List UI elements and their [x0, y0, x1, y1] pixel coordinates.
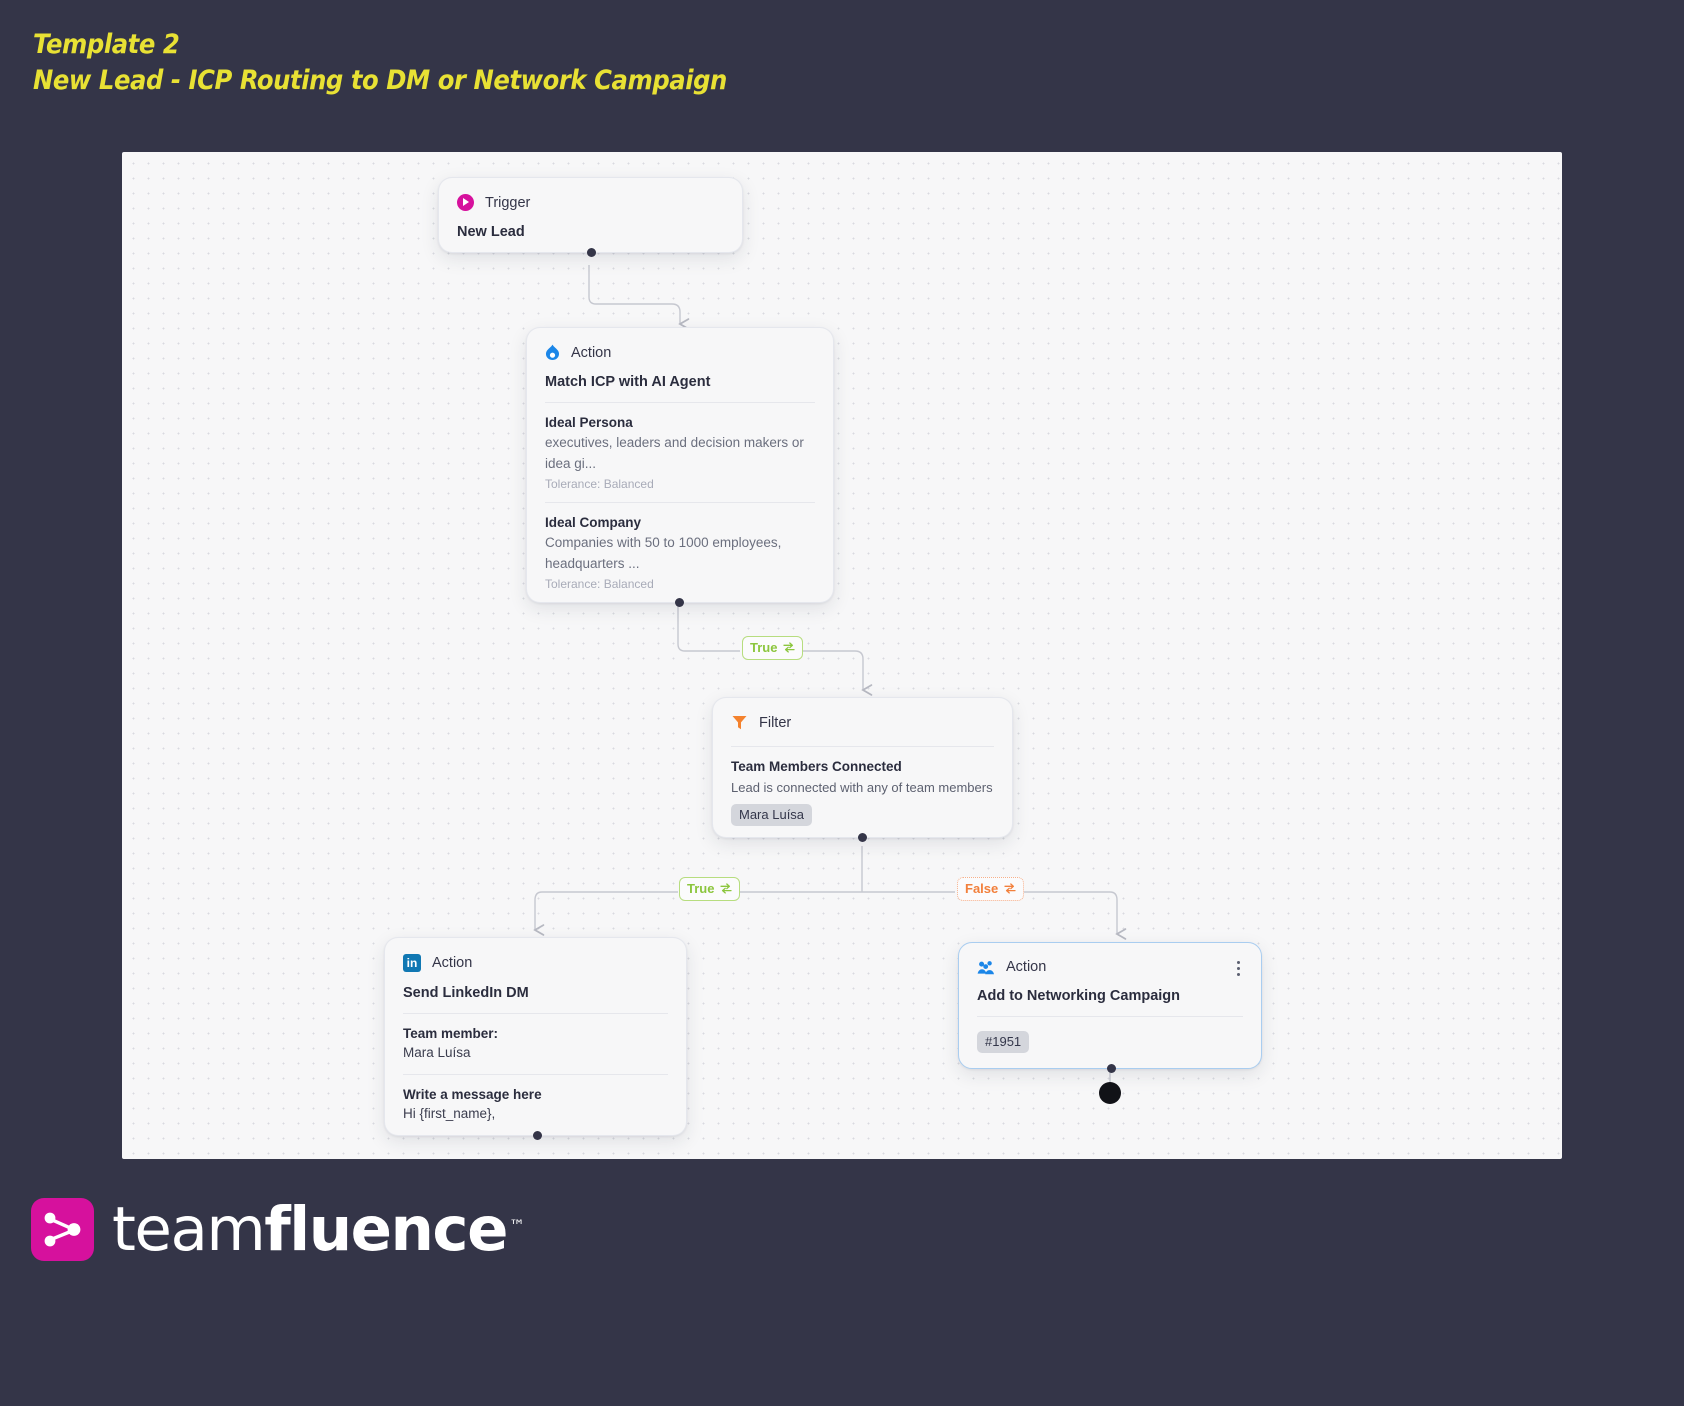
node-match-icp-output-port[interactable] [675, 598, 684, 607]
logo-word-thin: team [112, 1194, 264, 1265]
section-label: Team member: [403, 1026, 668, 1041]
people-group-icon [977, 960, 995, 975]
section-tolerance: Tolerance: Balanced [545, 477, 815, 491]
node-filter-header: Filter [713, 698, 1012, 731]
branch-badge-icp-true[interactable]: True [742, 636, 803, 660]
node-trigger[interactable]: Trigger New Lead [438, 177, 743, 253]
branch-badge-label: False [965, 881, 998, 896]
play-circle-icon [457, 194, 474, 211]
node-filter-body: Team Members Connected Lead is connected… [713, 747, 1012, 837]
linkedin-icon: in [403, 954, 421, 972]
workflow-canvas[interactable]: Trigger New Lead Action Match ICP with A… [122, 152, 1562, 1159]
section-body: Companies with 50 to 1000 employees, hea… [545, 532, 815, 574]
node-trigger-kind: Trigger [485, 195, 530, 211]
node-networking-kind: Action [1006, 959, 1046, 975]
node-send-dm-header: in Action [385, 938, 686, 972]
swap-arrows-icon [1004, 883, 1016, 894]
branch-badge-filter-false[interactable]: False [957, 877, 1024, 901]
node-networking-campaign-chip[interactable]: #1951 [977, 1031, 1029, 1053]
node-send-linkedin-dm[interactable]: in Action Send LinkedIn DM Team member: … [384, 937, 687, 1136]
section-label: Ideal Company [545, 515, 815, 530]
node-trigger-title: New Lead [439, 211, 742, 252]
node-networking-title: Add to Networking Campaign [959, 975, 1261, 1016]
section-body: Mara Luísa [403, 1042, 668, 1063]
funnel-icon [731, 714, 748, 731]
teamfluence-wordmark: teamfluence™ [112, 1199, 507, 1260]
swap-arrows-icon [720, 883, 732, 894]
page-title: Template 2 New Lead - ICP Routing to DM … [33, 28, 804, 100]
connector-wires [122, 152, 1562, 1159]
branch-badge-filter-true[interactable]: True [679, 877, 740, 901]
section-body: executives, leaders and decision makers … [545, 432, 815, 474]
node-match-icp[interactable]: Action Match ICP with AI Agent Ideal Per… [526, 327, 834, 603]
workflow-title: New Lead - ICP Routing to DM or Network … [33, 62, 727, 100]
section-label: Write a message here [403, 1087, 668, 1102]
section-label: Ideal Persona [545, 415, 815, 430]
swap-arrows-icon [783, 642, 795, 653]
node-match-icp-title: Match ICP with AI Agent [527, 361, 833, 402]
node-send-dm-section-message: Write a message here Hi {first_name}, [385, 1075, 686, 1135]
node-networking-header: Action [959, 943, 1261, 975]
trademark-symbol: ™ [509, 1195, 524, 1256]
node-trigger-header: Trigger [439, 178, 742, 211]
logo-word-bold: fluence [264, 1194, 507, 1265]
teamfluence-logo: teamfluence™ [31, 1198, 507, 1261]
branch-badge-label: True [750, 640, 777, 655]
node-filter[interactable]: Filter Team Members Connected Lead is co… [712, 697, 1013, 838]
node-filter-description: Lead is connected with any of team membe… [731, 780, 994, 795]
node-match-icp-kind: Action [571, 345, 611, 361]
section-body: Hi {first_name}, [403, 1103, 668, 1124]
branch-badge-label: True [687, 881, 714, 896]
node-trigger-output-port[interactable] [587, 248, 596, 257]
node-filter-member-chip[interactable]: Mara Luísa [731, 804, 812, 826]
ai-agent-flame-icon [545, 344, 560, 361]
node-filter-kind: Filter [759, 715, 791, 731]
section-tolerance: Tolerance: Balanced [545, 577, 815, 591]
node-send-dm-kind: Action [432, 955, 472, 971]
node-send-dm-output-port[interactable] [533, 1131, 542, 1140]
node-networking-body: #1951 [959, 1017, 1261, 1068]
teamfluence-node-icon [31, 1198, 94, 1261]
node-send-dm-section-member: Team member: Mara Luísa [385, 1014, 686, 1074]
node-match-icp-section-company: Ideal Company Companies with 50 to 1000 … [527, 503, 833, 602]
node-networking-output-port[interactable] [1107, 1064, 1116, 1073]
screenshot-root: Template 2 New Lead - ICP Routing to DM … [0, 0, 1684, 1406]
node-filter-title: Team Members Connected [731, 759, 994, 774]
node-match-icp-section-persona: Ideal Persona executives, leaders and de… [527, 403, 833, 502]
node-send-dm-title: Send LinkedIn DM [385, 972, 686, 1013]
node-match-icp-header: Action [527, 328, 833, 361]
node-networking-campaign[interactable]: Action Add to Networking Campaign #1951 [958, 942, 1262, 1069]
flow-end-marker[interactable] [1099, 1082, 1121, 1104]
kebab-menu-icon[interactable] [1229, 959, 1247, 977]
template-label: Template 2 [33, 28, 727, 62]
node-filter-output-port[interactable] [858, 833, 867, 842]
